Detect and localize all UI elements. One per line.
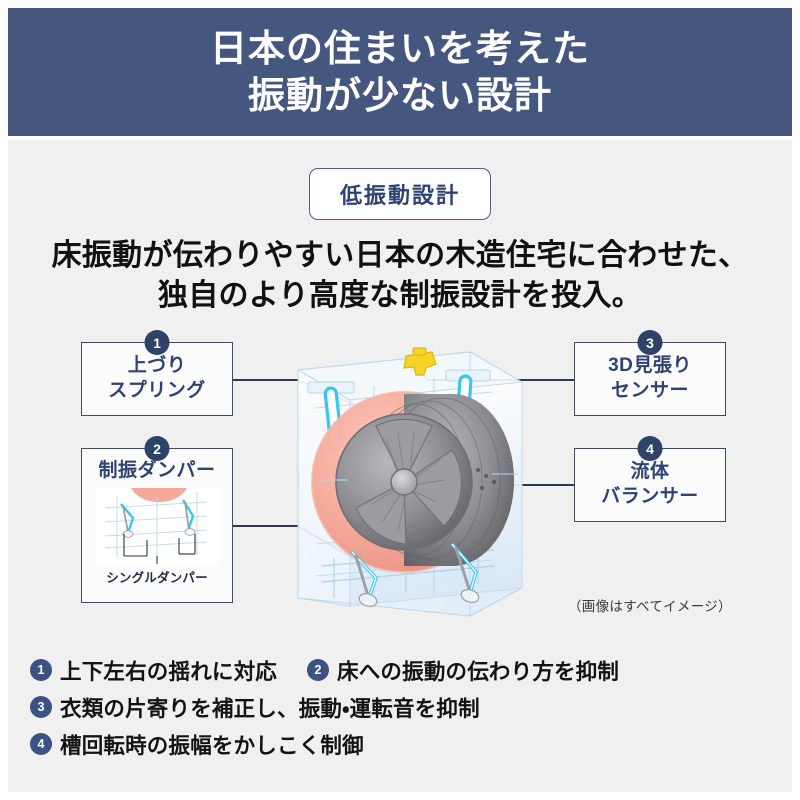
header-title-line-2: 振動が少ない設計 [248,72,552,119]
callout-number-badge-1: 1 [145,330,170,355]
diagram-stage: 1 上づり スプリング 2 制振ダンパー [8,330,792,640]
bullet-text-4: 槽回転時の振幅をかしこく制御 [60,729,364,760]
content-area: 低振動設計 床振動が伝わりやすい日本の木造住宅に合わせた、 独自のより高度な制振… [8,140,792,792]
callout-box-2: 2 制振ダンパー [81,448,233,603]
bullet-text-1: 上下左右の揺れに対応 [60,655,277,686]
image-disclaimer: （画像はすべてイメージ） [568,595,732,615]
main-heading: 床振動が伝わりやすい日本の木造住宅に合わせた、 独自のより高度な制振設計を投入。 [8,236,792,316]
callout-number-badge-4: 4 [638,436,663,461]
bullet-badge-4: 4 [30,733,52,755]
callout-title-4-line-1: 流体 [601,460,699,485]
callout-title-3-line-2: センサー [608,379,692,404]
infographic-page: 日本の住まいを考えた 振動が少ない設計 低振動設計 床振動が伝わりやすい日本の木… [0,0,800,800]
washing-machine-illustration [256,330,546,630]
callout-title-2-line-1: 制振ダンパー [98,459,215,484]
section-badge: 低振動設計 [309,168,491,220]
single-damper-detail-image [95,488,219,566]
callout-title-1-line-2: スプリング [108,379,206,404]
single-damper-caption: シングルダンパー [106,567,208,586]
bullet-text-3: 衣類の片寄りを補正し、振動・運転音を抑制 [60,692,480,723]
callout-number-badge-3: 3 [638,330,663,355]
bullet-row-3: 4 槽回転時の振幅をかしこく制御 [30,729,770,759]
bullet-badge-2: 2 [307,659,329,681]
bullet-badge-3: 3 [30,696,52,718]
header-title-line-1: 日本の住まいを考えた [210,25,590,72]
callout-title-2: 制振ダンパー [98,459,215,484]
bullet-item-3: 3 衣類の片寄りを補正し、振動・運転音を抑制 [30,692,480,723]
bullet-row-2: 3 衣類の片寄りを補正し、振動・運転音を抑制 [30,692,770,722]
callout-box-4: 4 流体 バランサー [574,448,726,522]
header-band: 日本の住まいを考えた 振動が少ない設計 [8,8,792,136]
main-heading-line-2: 独自のより高度な制振設計を投入。 [8,276,792,316]
callout-title-1: 上づり スプリング [108,354,206,403]
callout-number-badge-2: 2 [145,436,170,461]
main-heading-line-1: 床振動が伝わりやすい日本の木造住宅に合わせた、 [8,236,792,276]
bullet-item-1: 1 上下左右の揺れに対応 [30,655,277,686]
callout-box-1: 1 上づり スプリング [81,342,233,416]
bullet-text-2: 床への振動の伝わり方を抑制 [337,655,619,686]
callout-box-3: 3 3D見張り センサー [574,342,726,416]
bullet-item-2: 2 床への振動の伝わり方を抑制 [307,655,619,686]
bullet-badge-1: 1 [30,659,52,681]
callout-title-4: 流体 バランサー [601,460,699,509]
callout-title-3: 3D見張り センサー [608,354,692,403]
bullet-item-4: 4 槽回転時の振幅をかしこく制御 [30,729,364,760]
callout-title-1-line-1: 上づり [108,354,206,379]
callout-title-4-line-2: バランサー [601,485,699,510]
callout-title-3-line-1: 3D見張り [608,354,692,379]
feature-bullet-list: 1 上下左右の揺れに対応 2 床への振動の伝わり方を抑制 3 衣類の片寄りを補正… [30,655,770,766]
bullet-row-1: 1 上下左右の揺れに対応 2 床への振動の伝わり方を抑制 [30,655,770,685]
